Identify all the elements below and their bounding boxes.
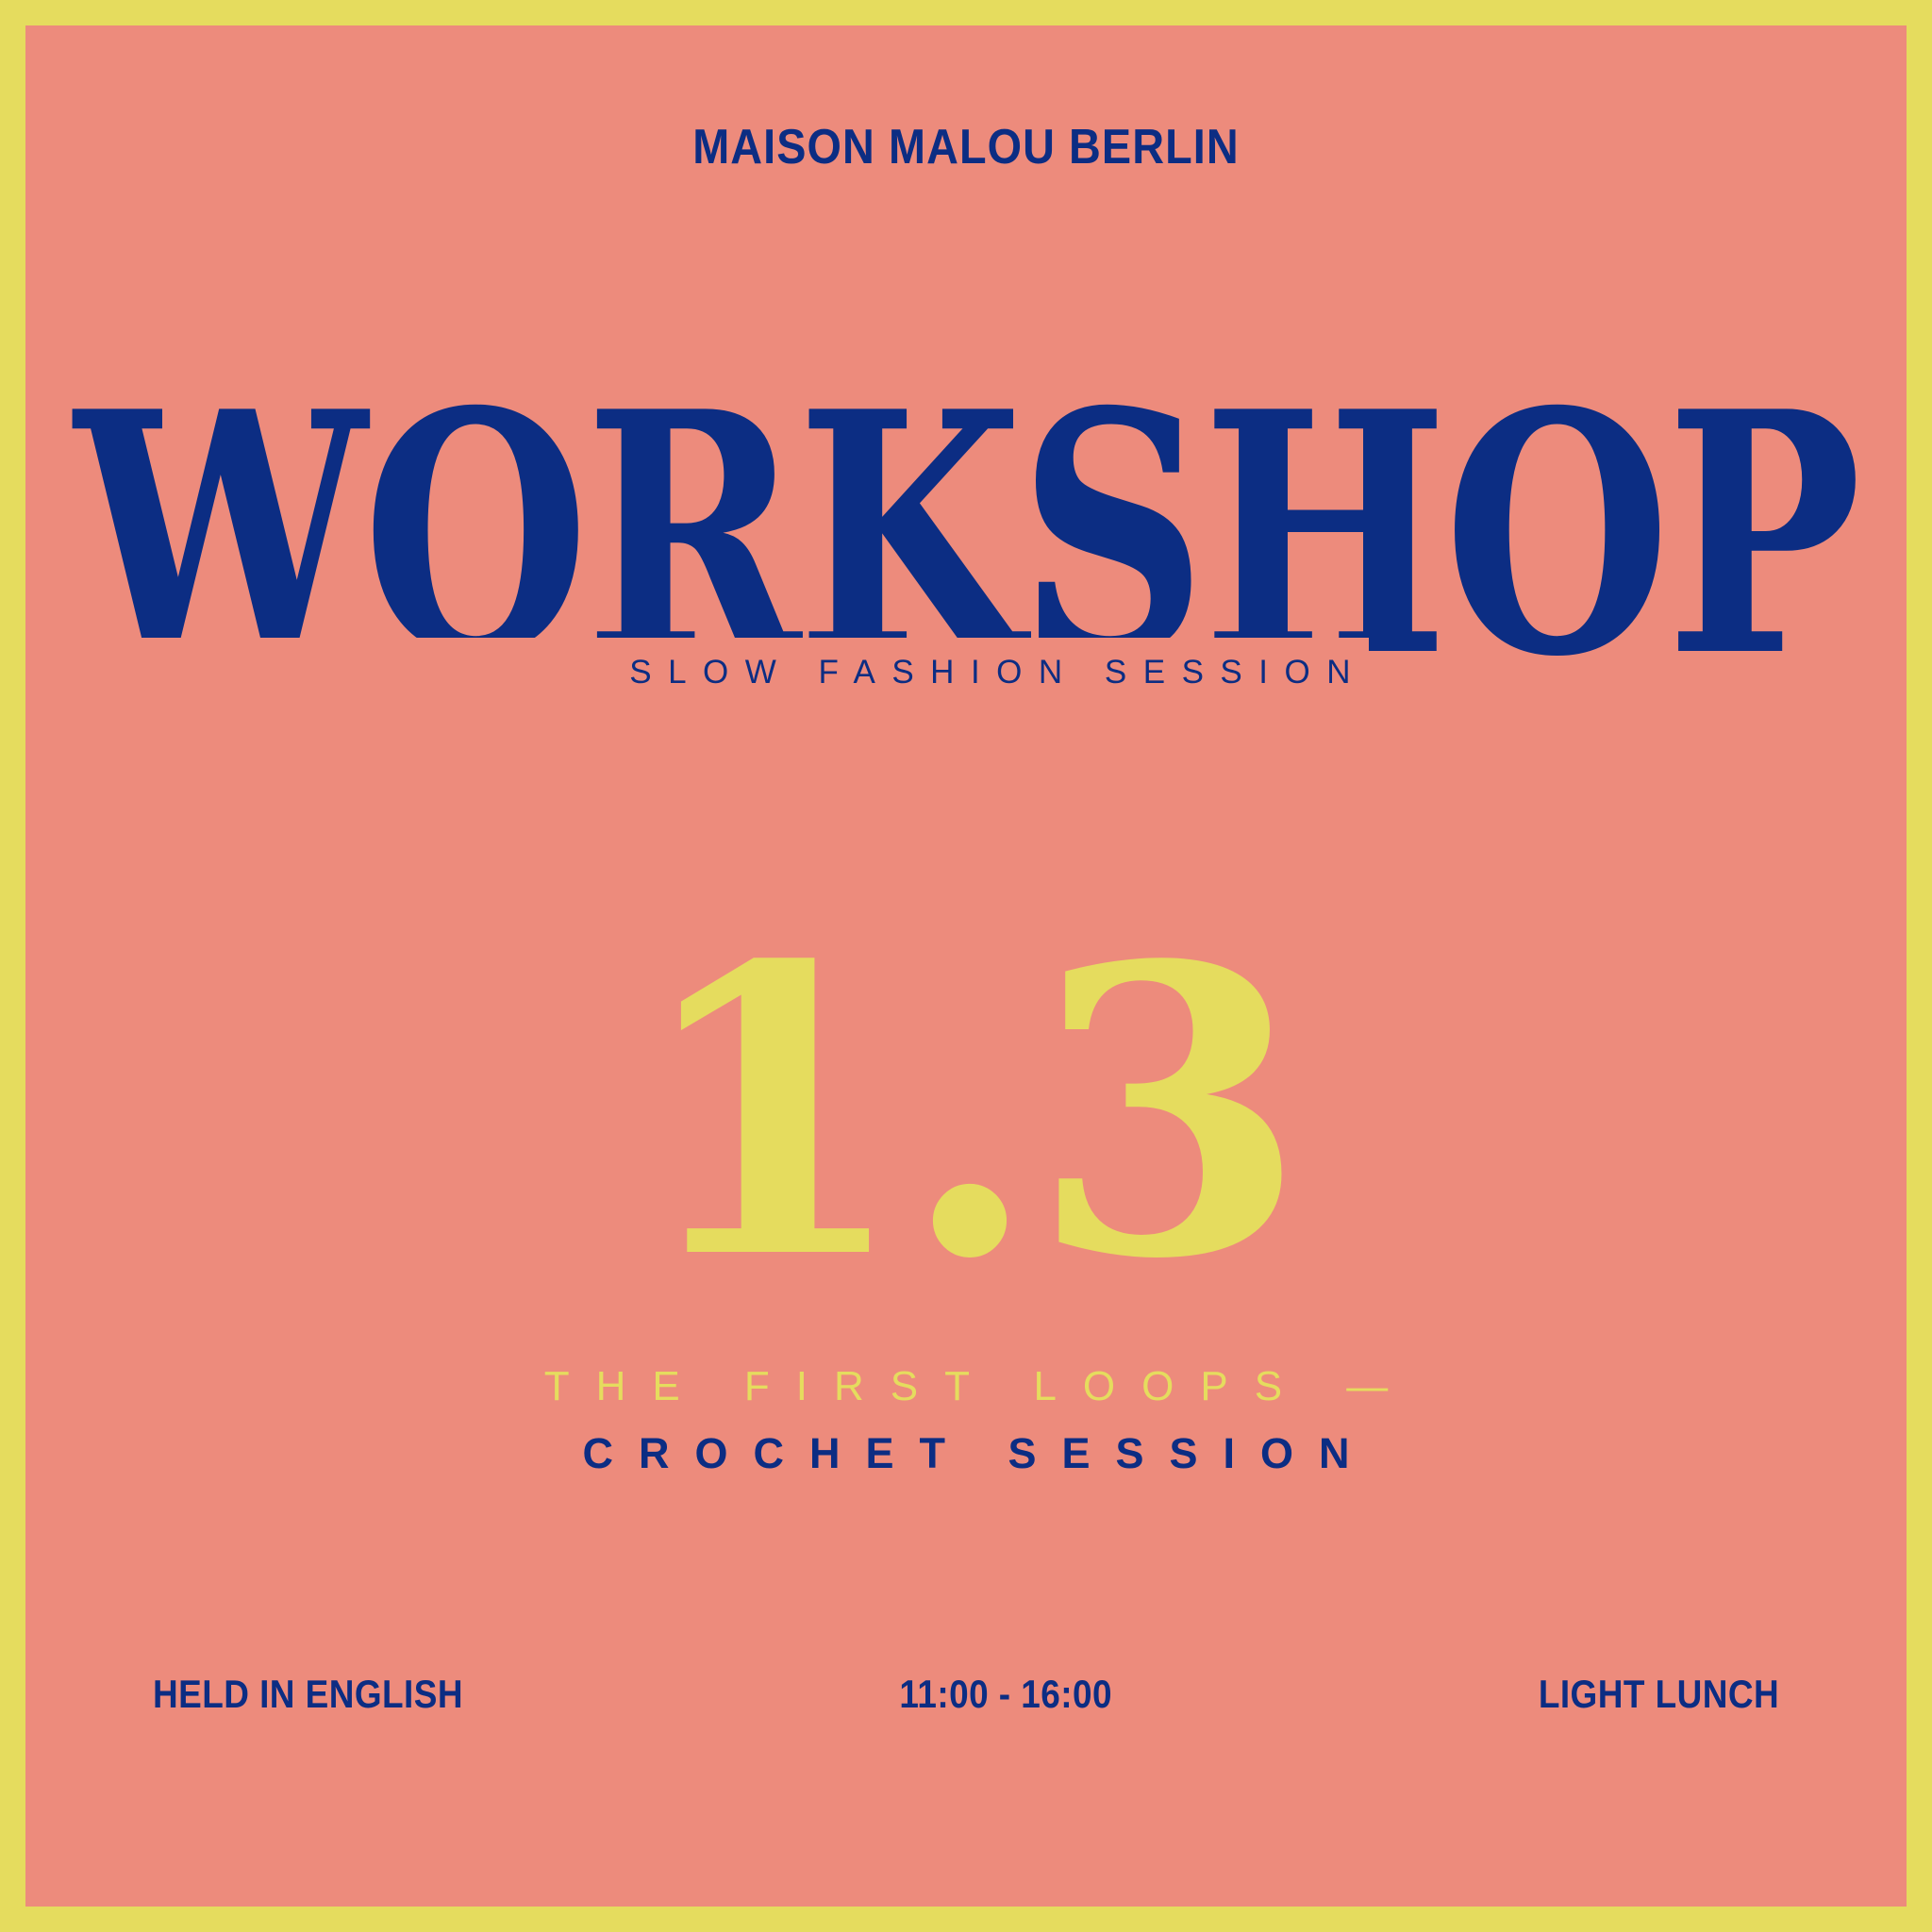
subtitle-line-2: CROCHET SESSION [25, 1429, 1907, 1478]
poster-canvas: MAISON MALOU BERLIN WORKSHOP SLOW FASHIO… [25, 25, 1907, 1907]
poster-frame: MAISON MALOU BERLIN WORKSHOP SLOW FASHIO… [0, 0, 1932, 1932]
slow-fashion-session-label: SLOW FASHION SESSION [25, 638, 1369, 707]
date-number: 1.3 [25, 935, 1907, 1293]
brand-name: MAISON MALOU BERLIN [120, 119, 1813, 175]
footer-row: HELD IN ENGLISH 11:00 - 16:00 LIGHT LUNC… [153, 1672, 1779, 1717]
footer-language: HELD IN ENGLISH [153, 1672, 463, 1717]
workshop-title: WORKSHOP [75, 407, 1857, 663]
footer-time: 11:00 - 16:00 [899, 1672, 1112, 1717]
subtitle-line-1: THE FIRST LOOPS — [25, 1363, 1907, 1410]
title-block: WORKSHOP SLOW FASHION SESSION [25, 407, 1907, 690]
footer-extra: LIGHT LUNCH [1539, 1672, 1779, 1717]
